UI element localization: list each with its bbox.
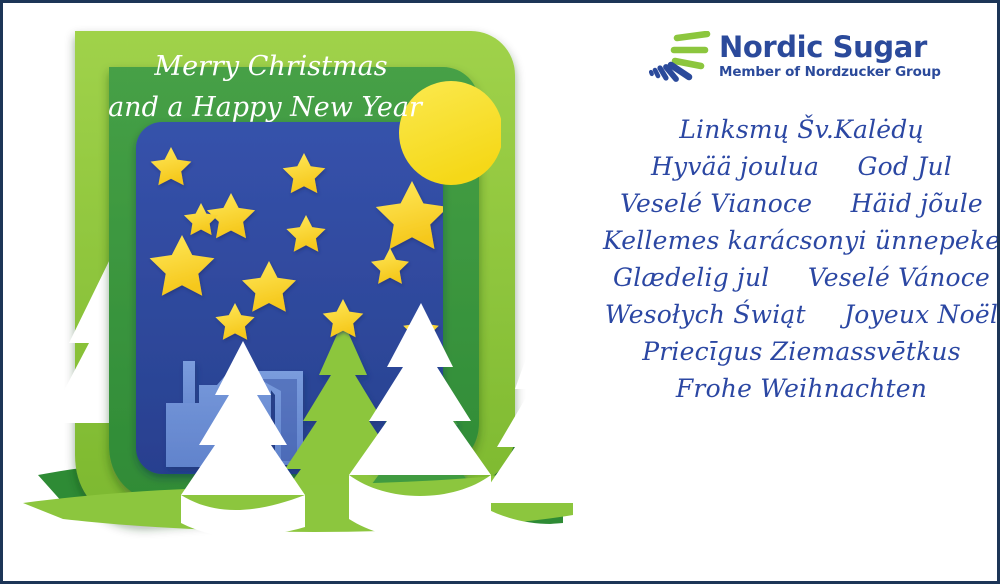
- greeting-right: Häid jõule: [851, 185, 983, 222]
- illustration-title-line-2: and a Happy New Year: [108, 92, 424, 123]
- greeting-line: Frohe Weihnachten: [603, 370, 1000, 407]
- greeting-left: Veselé Vianoce: [620, 185, 812, 222]
- multilingual-greetings: Linksmų Šv.Kalėdų Hyvää joulua God Jul V…: [603, 111, 1000, 407]
- greeting-right: God Jul: [857, 148, 952, 185]
- greeting-line: Kellemes karácsonyi ünnepeket: [603, 222, 1000, 259]
- greeting-line: Linksmų Šv.Kalėdų: [603, 111, 1000, 148]
- greeting-line: Priecīgus Ziemassvētkus: [603, 333, 1000, 370]
- greeting-left: Kellemes karácsonyi ünnepeket: [603, 222, 1000, 259]
- greeting-left: Glædelig jul: [613, 259, 769, 296]
- christmas-greeting-card: Merry Christmas and a Happy New Year: [0, 0, 1000, 584]
- greeting-left: Frohe Weihnachten: [676, 370, 927, 407]
- paper-cut-illustration: Merry Christmas and a Happy New Year: [3, 3, 603, 581]
- nordic-sugar-burst-logo-icon: [649, 31, 711, 83]
- greeting-right: Joyeux Noël: [844, 296, 998, 333]
- greeting-right: Veselé Vánoce: [808, 259, 990, 296]
- logo-tagline: Member of Nordzucker Group: [719, 63, 941, 81]
- illustration-title-line-1: Merry Christmas: [153, 51, 387, 82]
- greeting-left: Hyvää joulua: [651, 148, 819, 185]
- greeting-left: Linksmų Šv.Kalėdų: [679, 111, 924, 148]
- greeting-panel: Nordic Sugar Member of Nordzucker Group …: [603, 3, 1000, 581]
- greeting-line: Veselé Vianoce Häid jõule: [603, 185, 1000, 222]
- greeting-line: Wesołych Świąt Joyeux Noël: [603, 296, 1000, 333]
- greeting-left: Priecīgus Ziemassvētkus: [642, 333, 961, 370]
- greeting-line: Glædelig jul Veselé Vánoce: [603, 259, 1000, 296]
- greeting-left: Wesołych Świąt: [605, 296, 806, 333]
- nordic-sugar-logo[interactable]: Nordic Sugar Member of Nordzucker Group: [649, 29, 979, 91]
- logo-company-name: Nordic Sugar: [719, 31, 941, 63]
- logo-wordmark: Nordic Sugar Member of Nordzucker Group: [719, 31, 941, 81]
- greeting-line: Hyvää joulua God Jul: [603, 148, 1000, 185]
